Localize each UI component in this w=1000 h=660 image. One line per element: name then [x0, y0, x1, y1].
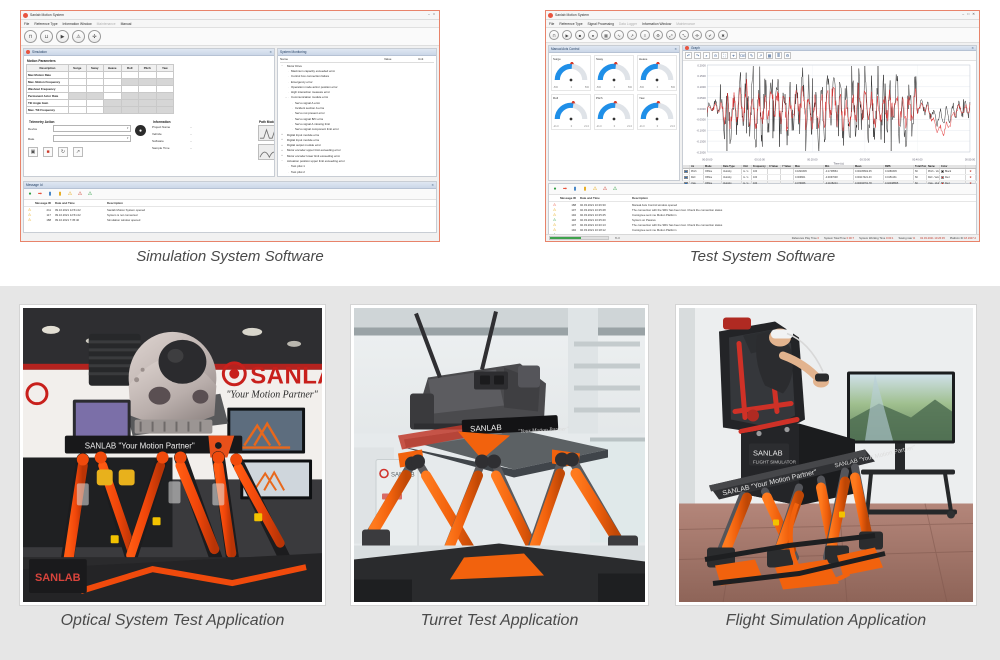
signal-total-point: 60: [914, 175, 927, 180]
arrow-icon[interactable]: ➡: [37, 191, 43, 197]
message-datetime: 02.03.2021 10:25:45: [580, 213, 632, 217]
manual-panel-body: Surge-5000500Sway-5000500Heave-5000500Ro…: [549, 53, 679, 180]
device-field: Device: [28, 125, 131, 132]
simulation-app-window: Sanlab Motion System – □ File Reference …: [20, 10, 440, 242]
gauge-dial: [553, 62, 589, 86]
settings-icon[interactable]: ⚙: [784, 52, 791, 59]
message-columns: Message ID Date and Time Description: [24, 200, 436, 207]
row-label: Washout Frequency: [27, 86, 69, 93]
message-row[interactable]: ⚠19202.03.2021 10:18:12Consignee sent me…: [549, 227, 976, 232]
grid-icon[interactable]: ▦: [601, 30, 611, 40]
disable-icon[interactable]: ✖: [718, 30, 728, 40]
tree-expander-icon[interactable]: +: [280, 149, 284, 152]
col-description: Description: [27, 65, 69, 72]
delete-button[interactable]: ■: [43, 147, 53, 157]
cell[interactable]: [86, 79, 104, 86]
arrow-icon[interactable]: ➡: [562, 186, 568, 192]
app-logo-icon: [548, 13, 553, 18]
info-icon[interactable]: ▮: [572, 186, 578, 192]
all-messages-icon[interactable]: ●: [27, 191, 33, 197]
signal-min: -0.1748564: [824, 169, 854, 174]
close-icon[interactable]: ✕: [269, 50, 272, 54]
message-description: Consignee sent me Motion Platform: [632, 213, 974, 217]
tree-expander-icon[interactable]: +: [280, 138, 284, 141]
status-item: System Working Time 0:00:1: [859, 237, 893, 240]
signal-checkbox[interactable]: [683, 175, 690, 180]
col-unit: Unit: [418, 57, 434, 61]
table-header-row: Description Surge Sway Heave Roll Pitch …: [27, 65, 174, 72]
rate-label: Rate: [28, 137, 50, 141]
message-severity-icon: ⚠: [26, 208, 33, 212]
motion-axes-icon[interactable]: ✣: [692, 30, 702, 40]
gauge-range: -5000500: [596, 86, 632, 89]
expand-icon[interactable]: ⤢: [666, 30, 676, 40]
cell[interactable]: [156, 93, 174, 100]
gauge-max: 21.0: [627, 125, 632, 128]
row-label: Max. Motion Frequency: [27, 79, 69, 86]
monitoring-panel-body: Name Value Unit −Motor Drive·Maximum cap…: [278, 56, 436, 176]
row-label: Permanent Actor Rate: [27, 93, 69, 100]
menu-information-window[interactable]: Information Window: [63, 22, 92, 26]
cell[interactable]: [69, 72, 87, 79]
app-logo-icon: [23, 13, 28, 18]
signal-rms: 0.0280345: [884, 169, 914, 174]
message-id: 118: [558, 218, 580, 222]
gauge-sway[interactable]: Sway-5000500: [594, 55, 634, 91]
export-icon[interactable]: ↗: [757, 52, 764, 59]
info-sample-time: Sample Time --: [152, 146, 252, 150]
message-row[interactable]: ⚠10702.03.2021 10:25:48The connection wi…: [549, 207, 976, 212]
tree-node-label: Emergency error: [291, 80, 313, 84]
message-datetime: 09.10.2021 12:51:22: [55, 208, 107, 212]
status-label: System Total Time: [824, 237, 847, 240]
cell[interactable]: [86, 72, 104, 79]
cell[interactable]: [139, 79, 157, 86]
cell[interactable]: [139, 100, 157, 107]
menu-maintenance[interactable]: Maintenance: [97, 22, 116, 26]
menu-file[interactable]: File: [549, 22, 554, 26]
tree-node-label: Motor Drive: [287, 64, 302, 68]
cell[interactable]: [104, 79, 122, 86]
signal-x-value: [768, 169, 781, 174]
info-software: Software --: [152, 139, 252, 143]
gauge-max: 21.0: [670, 125, 675, 128]
play-icon[interactable]: ▶: [562, 30, 572, 40]
signal-chart[interactable]: 0.20000.15000.10000.05000.0000-0.0500-0.…: [683, 61, 976, 165]
gauge-value: 0: [657, 86, 658, 89]
col-color: Color: [940, 165, 966, 168]
signal-name: Roll - Velocity: [927, 175, 940, 180]
path-mode-option-2[interactable]: [258, 144, 274, 160]
gauge-min: -21.0: [553, 125, 559, 128]
signal-y-value: [781, 169, 794, 174]
back-icon[interactable]: ↶: [685, 52, 692, 59]
info-vehicle: Vehicle --: [152, 132, 252, 136]
table-row[interactable]: Max Motion Rate: [27, 72, 174, 79]
message-row[interactable]: ⚠18809.10.2021 7:35:40Simulation window …: [24, 217, 436, 222]
path-waveform-icon: [259, 126, 274, 141]
message-row[interactable]: ⚠19202.03.2021 10:25:45Consignee sent me…: [549, 212, 976, 217]
message-description: Sanlab Motion System opened: [107, 208, 434, 212]
cell[interactable]: [156, 86, 174, 93]
tree-node-label: Test pilot 1: [291, 164, 305, 168]
tree-expander-icon[interactable]: −: [280, 64, 284, 67]
record-button[interactable]: ●: [135, 125, 146, 136]
all-messages-icon[interactable]: ●: [552, 186, 558, 192]
status-item: Reference Play Time 0: [792, 237, 819, 240]
simulation-panel-body: Motion Parameters Description Surge Sway…: [24, 56, 274, 176]
zoom-out-icon[interactable]: ⊖: [712, 52, 719, 59]
info-key: Vehicle: [152, 132, 186, 136]
message-id: 107: [558, 208, 580, 212]
message-row[interactable]: ⚠11709.10.2021 12:51:22System is not con…: [24, 212, 436, 217]
row-label: Max Motion Rate: [27, 72, 69, 79]
col-icon: [551, 196, 558, 200]
message-description: System is not connected: [107, 213, 434, 217]
minimize-icon[interactable]: –: [962, 13, 964, 16]
tree-expander-icon[interactable]: +: [280, 154, 284, 157]
message-datetime: 02.03.2021 10:26:30: [580, 203, 632, 207]
photo-card-optical: SANLAB "Your Motion Partner": [20, 305, 325, 605]
status-label: System Working Time: [859, 237, 886, 240]
cell[interactable]: [104, 107, 122, 114]
status-value: 0:00:7: [847, 237, 854, 240]
menu-reference-type[interactable]: Reference Type: [34, 22, 57, 26]
cell[interactable]: [139, 72, 157, 79]
tree-node-label: Servo signal A error: [295, 101, 320, 105]
status-value: 0: [817, 237, 819, 240]
message-id: 192: [558, 213, 580, 217]
signal-data-type: Velocity: [722, 169, 742, 174]
message-severity-icon: ⚠: [551, 213, 558, 217]
tree-node-label: Test pilot 2: [291, 170, 305, 174]
menu-information-window[interactable]: Information Window: [642, 22, 671, 26]
cell[interactable]: [156, 100, 174, 107]
tree-node-label: Servo signal B/C error: [295, 117, 323, 121]
simulation-software-card: Sanlab Motion System – □ File Reference …: [20, 10, 440, 242]
gauge-dial: [596, 101, 632, 125]
status-item: 02.03.2021 10:26:45: [920, 237, 945, 240]
gauge-min: -500: [553, 86, 558, 89]
cell[interactable]: [104, 86, 122, 93]
system-monitoring-panel: System Monitoring Name Value Unit −Motor…: [277, 48, 437, 177]
cell[interactable]: [139, 86, 157, 93]
col-rms: RMS: [884, 165, 914, 168]
table-icon[interactable]: ≡: [640, 30, 650, 40]
warning-icon[interactable]: ⚠: [592, 186, 598, 192]
maximize-icon[interactable]: □: [433, 13, 435, 16]
menu-file[interactable]: File: [24, 22, 29, 26]
message-row[interactable]: ⚠10702.03.2021 10:20:13The connection wi…: [549, 222, 976, 227]
zoom-in-icon[interactable]: ⌕: [703, 52, 710, 59]
path-mode-label: Path Mode: [259, 120, 274, 124]
cell[interactable]: [121, 79, 139, 86]
svg-text:00:30:00: 00:30:00: [860, 158, 871, 162]
cell[interactable]: [121, 100, 139, 107]
signal-mode: Offline: [704, 175, 722, 180]
message-row[interactable]: ⚠11802.03.2021 10:25:40System on Passive: [549, 217, 976, 222]
grid-icon[interactable]: ▦: [766, 52, 773, 59]
signal-rms: 0.0151131: [884, 175, 914, 180]
close-icon[interactable]: ✕: [972, 13, 975, 16]
tree-expander-icon[interactable]: −: [280, 159, 284, 162]
table-row[interactable]: Tilt Angle Gain: [27, 100, 174, 107]
col-frequency: Frequency: [752, 165, 768, 168]
info-value: --: [190, 139, 192, 143]
gauge-pitch[interactable]: Pitch-21.0021.0: [594, 94, 634, 130]
test-software-card: Sanlab Motion System – □ ✕ File Referenc…: [545, 10, 980, 242]
message-datetime: 02.03.2021 10:20:13: [580, 223, 632, 227]
cell[interactable]: [139, 107, 157, 114]
info-value: --: [190, 125, 192, 129]
gauge-dial: [639, 101, 675, 125]
table-row[interactable]: Permanent Actor Rate: [27, 93, 174, 100]
park-position-icon[interactable]: ⊓: [549, 30, 559, 40]
message-row[interactable]: ⚠21109.10.2021 12:51:22Sanlab Motion Sys…: [24, 207, 436, 212]
graph-panel-title: Graph: [691, 46, 700, 50]
manual-axis-control-panel: Manual Axis Control ✕ Surge-5000500Sway-…: [548, 45, 680, 181]
cell[interactable]: [86, 86, 104, 93]
save-icon[interactable]: ὋE: [739, 52, 746, 59]
col-icon: [26, 201, 33, 205]
col-yaw: Yaw: [156, 65, 174, 72]
menu-signal-processing[interactable]: Signal Processing: [588, 22, 614, 26]
export-button[interactable]: ↗: [73, 147, 83, 157]
filter-icon[interactable]: ⚠: [612, 186, 618, 192]
cell[interactable]: [69, 86, 87, 93]
cell[interactable]: [156, 79, 174, 86]
cell[interactable]: [86, 93, 104, 100]
tree-node-label: High interaction measure error: [291, 90, 330, 94]
minimize-icon[interactable]: –: [428, 13, 430, 16]
test-message-panel: ● ➡ ▮ ▮ ⚠ ⚠ ⚠ Message ID Date and Time D…: [548, 183, 977, 239]
gauge-surge[interactable]: Surge-5000500: [551, 55, 591, 91]
col-data-type: Data Type: [722, 165, 742, 168]
path-mode-option-1[interactable]: [258, 125, 274, 141]
monitoring-tree[interactable]: −Motor Drive·Maximum capacity exceeded e…: [280, 63, 434, 176]
tree-node-label: Test pilot 3: [291, 175, 305, 176]
gauge-value: 0: [614, 125, 615, 128]
signal-checkbox[interactable]: [683, 169, 690, 174]
warning-icon[interactable]: ⚠: [72, 30, 85, 43]
info-key: Project Name: [152, 125, 186, 129]
gauge-label: Heave: [639, 57, 675, 61]
cell[interactable]: [69, 100, 87, 107]
warning-icon[interactable]: ⚠: [67, 191, 73, 197]
close-icon[interactable]: ✕: [431, 183, 434, 187]
error-icon[interactable]: ⚠: [602, 186, 608, 192]
chart-canvas: 0.20000.15000.10000.05000.0000-0.0500-0.…: [683, 61, 976, 165]
table-row[interactable]: Max. Motion Frequency: [27, 79, 174, 86]
test-status-bar: % 3 Reference Play Time 0System Total Ti…: [546, 234, 979, 241]
tree-node-label: Motor encoder lower limit exceeding erro…: [287, 154, 340, 158]
telemetry-buttons: ▣ ■ ↻ ↗: [28, 147, 146, 157]
progress-bar: [549, 236, 609, 240]
cell[interactable]: [86, 100, 104, 107]
stop-icon[interactable]: ■: [575, 30, 585, 40]
path-mode-group: Path Mode: [258, 119, 274, 163]
enable-icon[interactable]: ✔: [705, 30, 715, 40]
message-row[interactable]: ⚠18802.03.2021 10:26:30Manual Axis Contr…: [549, 202, 976, 207]
message-datetime: 09.10.2021 12:51:22: [55, 213, 107, 217]
tree-node-label: Servo signal component limit error: [295, 127, 339, 131]
caption-flight-application: Flight Simulation Application: [676, 612, 976, 630]
status-value: 0:00:1: [886, 237, 893, 240]
cell[interactable]: [121, 107, 139, 114]
seat-brand-text: SANLAB: [753, 449, 783, 458]
park-position-icon[interactable]: ⊓: [24, 30, 37, 43]
collapse-icon[interactable]: ⤡: [679, 30, 689, 40]
manual-panel-title: Manual Axis Control: [551, 47, 579, 51]
device-label: Device: [28, 127, 50, 131]
svg-text:00:20:00: 00:20:00: [807, 158, 818, 162]
filter-icon[interactable]: ⚠: [87, 191, 93, 197]
message-severity-icon: ⚠: [551, 208, 558, 212]
maximize-icon[interactable]: □: [967, 13, 969, 16]
note-icon[interactable]: ▮: [57, 191, 63, 197]
tree-node-label: Servo not present error: [295, 111, 325, 115]
cell[interactable]: [121, 72, 139, 79]
col-roll: Roll: [121, 65, 139, 72]
cell[interactable]: [69, 107, 87, 114]
message-datetime: 02.03.2021 10:25:48: [580, 208, 632, 212]
gauge-yaw[interactable]: Yaw-21.0021.0: [637, 94, 677, 130]
chart-icon[interactable]: ↗: [627, 30, 637, 40]
close-icon[interactable]: ✕: [674, 47, 677, 51]
tree-node[interactable]: ·Test pilot 3: [280, 174, 434, 176]
message-id: 117: [33, 213, 55, 217]
simulation-panel: Simulation ✕ Motion Parameters Descripti…: [23, 48, 275, 177]
message-id: 192: [558, 228, 580, 232]
menu-manual[interactable]: Manual: [121, 22, 132, 26]
test-window-titlebar: Sanlab Motion System – □ ✕: [546, 11, 979, 20]
cell[interactable]: [104, 72, 122, 79]
cell[interactable]: [156, 107, 174, 114]
gauge-heave[interactable]: Heave-5000500: [637, 55, 677, 91]
signal-unit: m / s: [742, 169, 752, 174]
signal-frequency: 100: [752, 175, 768, 180]
error-icon[interactable]: ⚠: [77, 191, 83, 197]
note-icon[interactable]: ▮: [582, 186, 588, 192]
gauge-range: -5000500: [553, 86, 589, 89]
gauge-label: Yaw: [639, 96, 675, 100]
signal-y-value: [781, 175, 794, 180]
rate-select[interactable]: [53, 135, 131, 142]
tree-node-label: Motor encoder upper limit exceeding erro…: [287, 148, 341, 152]
test-window-title: Sanlab Motion System: [555, 13, 589, 17]
tree-expander-icon[interactable]: +: [280, 133, 284, 136]
caption-test-software: Test System Software: [545, 248, 980, 265]
cell[interactable]: [139, 93, 157, 100]
menu-reference-type[interactable]: Reference Type: [559, 22, 582, 26]
svg-text:"Your Motion Partner": "Your Motion Partner": [226, 390, 318, 401]
software-band: Sanlab Motion System – □ File Reference …: [0, 0, 1000, 286]
cell[interactable]: [69, 93, 87, 100]
cell[interactable]: [86, 107, 104, 114]
row-label: Max. Tilt Frequency: [27, 107, 69, 114]
table-row[interactable]: Max. Tilt Frequency: [27, 107, 174, 114]
optical-test-illustration: SANLAB "Your Motion Partner": [23, 308, 322, 602]
svg-text:-0.0500: -0.0500: [697, 118, 707, 122]
gauge-roll[interactable]: Roll-21.0021.0: [551, 94, 591, 130]
record-icon[interactable]: ●: [588, 30, 598, 40]
gauge-dial: [639, 62, 675, 86]
signal-delete-button[interactable]: ✖: [966, 175, 976, 180]
col-heave: Heave: [104, 65, 122, 72]
photo-optical-system-test: SANLAB "Your Motion Partner": [20, 305, 325, 605]
signal-x-value: [768, 175, 781, 180]
info-icon[interactable]: ▮: [47, 191, 53, 197]
svg-text:Time (s): Time (s): [833, 161, 843, 165]
cursor-icon[interactable]: ⌖: [730, 52, 737, 59]
wave-icon[interactable]: ∿: [614, 30, 624, 40]
cell[interactable]: [104, 93, 122, 100]
status-value: 18.1907.2: [964, 237, 976, 240]
svg-text:-0.1000: -0.1000: [697, 129, 707, 133]
play-icon[interactable]: ▶: [56, 30, 69, 43]
gauge-range: -21.0021.0: [639, 125, 675, 128]
cell[interactable]: [121, 86, 139, 93]
gauge-value: 0: [571, 86, 572, 89]
edit-icon[interactable]: ✎: [748, 52, 755, 59]
turret-test-illustration: SANLAB: [354, 308, 645, 602]
home-position-icon[interactable]: ⊔: [40, 30, 53, 43]
forward-icon[interactable]: ↷: [694, 52, 701, 59]
cell[interactable]: [121, 93, 139, 100]
gauge-max: 21.0: [584, 125, 589, 128]
col-mode: Mode: [704, 165, 722, 168]
close-icon[interactable]: ✕: [971, 46, 974, 50]
settings-icon[interactable]: ⚙: [653, 30, 663, 40]
signal-mean: 0.00117421.43: [854, 175, 884, 180]
table-row[interactable]: Washout Frequency: [27, 86, 174, 93]
cell[interactable]: [69, 79, 87, 86]
signal-color-select[interactable]: Black: [940, 169, 966, 174]
photo-turret-test: SANLAB: [351, 305, 648, 605]
menu-maintenance[interactable]: Maintenance: [676, 22, 695, 26]
svg-text:00:50:00: 00:50:00: [965, 158, 976, 162]
message-columns: Message ID Date and Time Description: [549, 195, 976, 202]
test-content: Manual Axis Control ✕ Surge-5000500Sway-…: [546, 43, 979, 183]
cell[interactable]: [104, 100, 122, 107]
svg-text:0.0500: 0.0500: [697, 96, 706, 100]
gauge-range: -21.0021.0: [596, 125, 632, 128]
seat-sub-text: FLIGHT SIMULATOR: [753, 460, 797, 465]
tree-node-label: Control box connection failure: [291, 74, 329, 78]
message-description: Consignee sent me Motion Platform: [632, 228, 974, 232]
gauge-label: Roll: [553, 96, 589, 100]
menu-data-logger[interactable]: Data Logger: [619, 22, 637, 26]
rate-field: Rate: [28, 135, 131, 142]
fit-icon[interactable]: ⛶: [721, 52, 728, 59]
device-select[interactable]: [53, 125, 131, 132]
motion-axes-icon[interactable]: ✣: [88, 30, 101, 43]
tree-expander-icon[interactable]: +: [280, 144, 284, 147]
refresh-button[interactable]: ↻: [58, 147, 68, 157]
legend-icon[interactable]: ≣: [775, 52, 782, 59]
signal-color-select[interactable]: Red: [940, 175, 966, 180]
signal-delete-button[interactable]: ✖: [966, 169, 976, 174]
signal-min: -0.0067048: [824, 175, 854, 180]
status-label: Platform ID: [950, 237, 964, 240]
signal-max: 0.009601: [794, 175, 824, 180]
col-mean: Mean: [854, 165, 884, 168]
cell[interactable]: [156, 72, 174, 79]
save-button[interactable]: ▣: [28, 147, 38, 157]
message-severity-icon: ⚠: [551, 203, 558, 207]
svg-text:-0.2000: -0.2000: [697, 150, 707, 154]
message-list[interactable]: ⚠21109.10.2021 12:51:22Sanlab Motion Sys…: [24, 207, 436, 222]
